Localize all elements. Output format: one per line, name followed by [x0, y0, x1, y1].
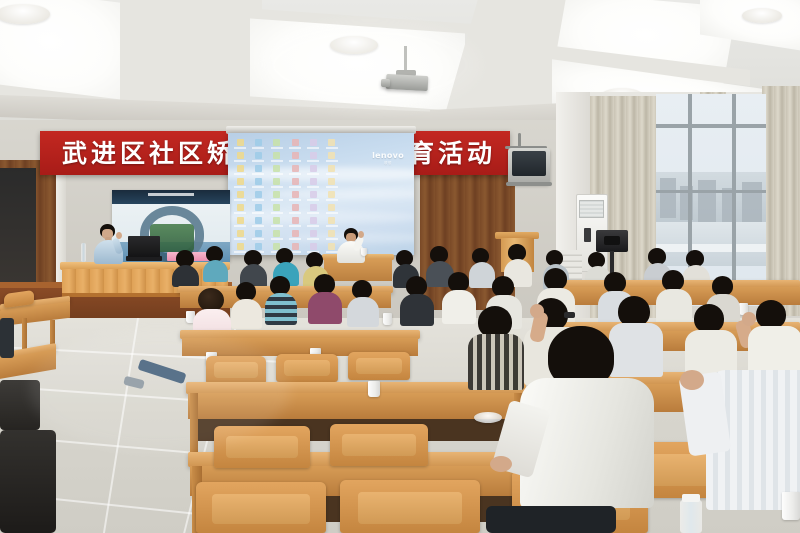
desktop-icon[interactable] [304, 189, 322, 202]
desktop-icon[interactable] [286, 202, 304, 215]
desktop-icon[interactable] [268, 228, 286, 241]
floor-speaker-stand [610, 251, 614, 273]
desktop-icon[interactable] [304, 176, 322, 189]
desktop-icon[interactable] [249, 228, 267, 241]
desktop-icon[interactable] [304, 228, 322, 241]
projector-lens [381, 79, 390, 87]
desktop-icon[interactable] [323, 150, 341, 163]
chair-inset [284, 360, 330, 376]
air-conditioner-vent [579, 200, 604, 218]
chair-inset [214, 362, 258, 378]
desktop-icon[interactable] [268, 215, 286, 228]
bag-left-foreground [0, 430, 56, 533]
desktop-icon[interactable] [304, 163, 322, 176]
chair-left-far [0, 380, 40, 430]
lenovo-wordmark: lenovo [372, 151, 404, 160]
desktop-icon[interactable] [286, 137, 304, 150]
desktop-icon[interactable] [323, 176, 341, 189]
foreground-hand [490, 456, 512, 472]
doorway-dark [0, 168, 36, 288]
desktop-icon[interactable] [323, 137, 341, 150]
lenovo-logo: lenovo 联想 [372, 151, 404, 165]
desktop-icon[interactable] [286, 163, 304, 176]
desktop-icon[interactable] [231, 163, 249, 176]
desktop-icon[interactable] [268, 189, 286, 202]
desktop-icon-grid [231, 137, 341, 253]
desktop-icon[interactable] [249, 137, 267, 150]
tv-mount-arm [518, 133, 521, 147]
desktop-icon[interactable] [304, 215, 322, 228]
cup-front-table [361, 248, 367, 256]
person-left-edge [0, 318, 14, 358]
desktop-icon[interactable] [323, 228, 341, 241]
chair-inset [212, 494, 310, 524]
desktop-icon[interactable] [304, 202, 322, 215]
desktop-icon[interactable] [286, 228, 304, 241]
water-bottle-podium [81, 243, 86, 262]
desktop-icon[interactable] [249, 202, 267, 215]
desktop-icon[interactable] [286, 176, 304, 189]
presenter-left-hand [116, 232, 122, 239]
desktop-icon[interactable] [231, 215, 249, 228]
tv-mount-lower [506, 182, 552, 186]
laptop-lid [128, 236, 160, 257]
banner-text-right: 育活动 [409, 141, 496, 166]
conference-room-photo: 武进区社区矫 育活动 lenovo 联想 [0, 0, 800, 533]
desktop-icon[interactable] [268, 176, 286, 189]
window-rooftop [656, 244, 766, 252]
desktop-icon[interactable] [249, 150, 267, 163]
desktop-icon[interactable] [304, 150, 322, 163]
paper-cup [368, 381, 380, 397]
bag-foreground [486, 506, 616, 533]
banner-text-left: 武进区社区矫 [62, 141, 236, 166]
ashtray [474, 412, 502, 423]
poster-header [112, 190, 230, 204]
desktop-icon[interactable] [268, 202, 286, 215]
desktop-icon[interactable] [231, 189, 249, 202]
desktop-icon[interactable] [249, 189, 267, 202]
desktop-icon[interactable] [249, 176, 267, 189]
ceiling-projector [386, 74, 429, 91]
desktop-icon[interactable] [231, 150, 249, 163]
floor-speaker-driver [604, 236, 620, 245]
projection-screen: lenovo 联想 [228, 133, 414, 255]
desktop-icon[interactable] [231, 228, 249, 241]
chair-inset [358, 492, 462, 524]
desktop-icon[interactable] [268, 150, 286, 163]
desktop-icon[interactable] [268, 163, 286, 176]
chair-inset [226, 436, 298, 458]
chair-inset [342, 434, 416, 456]
desktop-icon[interactable] [249, 163, 267, 176]
paper-cup [782, 492, 800, 520]
glasses [564, 312, 575, 318]
air-conditioner-panel [584, 228, 591, 242]
desktop-icon[interactable] [249, 215, 267, 228]
desktop-icon[interactable] [286, 150, 304, 163]
desktop-icon[interactable] [323, 215, 341, 228]
desktop-icon[interactable] [323, 163, 341, 176]
projector-pole [404, 46, 407, 72]
water-bottle-cap [682, 494, 700, 502]
desktop-icon[interactable] [323, 189, 341, 202]
desktop-icon[interactable] [286, 215, 304, 228]
desktop-icon[interactable] [231, 137, 249, 150]
tv-screen [512, 151, 546, 176]
desktop-icon[interactable] [231, 202, 249, 215]
desktop-icon[interactable] [231, 176, 249, 189]
desktop-icon[interactable] [323, 202, 341, 215]
desktop-icon[interactable] [304, 137, 322, 150]
lenovo-subtext: 联想 [372, 160, 404, 165]
chair-inset [356, 358, 402, 374]
desktop-icon[interactable] [268, 137, 286, 150]
desktop-icon[interactable] [286, 189, 304, 202]
water-bottle [680, 500, 702, 533]
paper-cup [383, 313, 392, 325]
